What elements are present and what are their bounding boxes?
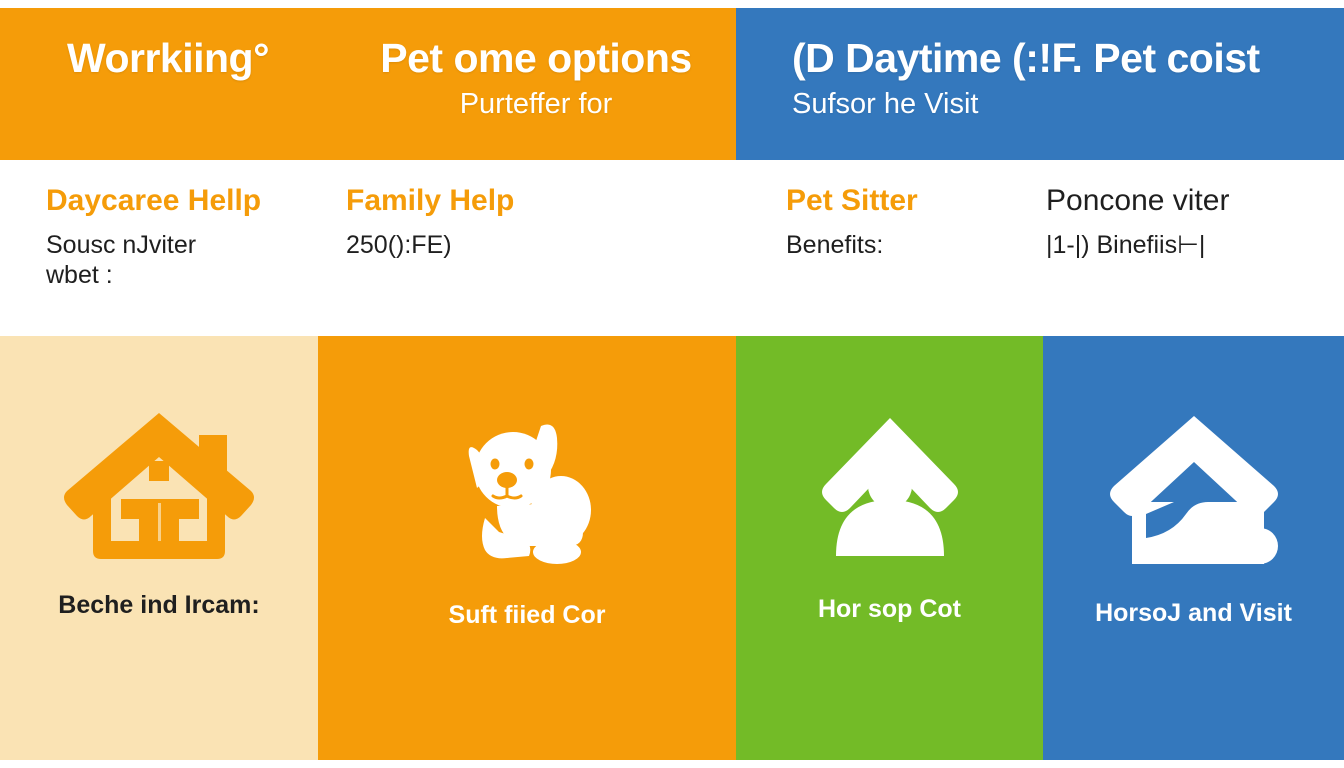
header-title-2: Pet ome options bbox=[380, 36, 691, 80]
middle-body-daycare: Sousc nJviter wbet : bbox=[46, 230, 196, 290]
panel-pet-sitter[interactable]: Hor sop Cot bbox=[736, 336, 1043, 760]
house-icon bbox=[59, 394, 259, 574]
middle-heading-poncone-viter: Poncone viter bbox=[1046, 184, 1229, 218]
middle-body-pet-sitter: Benefits: bbox=[786, 230, 883, 260]
middle-column-daycare: Daycaree Hellp Sousc nJviter wbet : bbox=[0, 160, 336, 336]
header-band: Worrkiing° Pet ome options Purteffer for… bbox=[0, 8, 1344, 160]
panel-label-puppy: Suft fiied Cor bbox=[449, 602, 606, 630]
infographic-canvas: Worrkiing° Pet ome options Purteffer for… bbox=[0, 0, 1344, 768]
bottom-white-strip bbox=[0, 760, 1344, 768]
header-subtitle-2: Purteffer for bbox=[460, 88, 613, 121]
middle-column-pet-sitter: Pet Sitter Benefits: bbox=[736, 160, 1036, 336]
icon-panels-row: Beche ind Ircam: bbox=[0, 336, 1344, 760]
header-segment-working: Worrkiing° bbox=[0, 8, 336, 160]
header-subtitle-3: Sufsor he Visit bbox=[792, 88, 978, 121]
middle-info-band: Daycaree Hellp Sousc nJviter wbet : Fami… bbox=[0, 160, 1344, 336]
header-segment-pet-options: Pet ome options Purteffer for bbox=[336, 8, 736, 160]
header-title-3: (D Daytime (:!F. Pet coist bbox=[792, 36, 1260, 80]
panel-puppy[interactable]: Suft fiied Cor bbox=[318, 336, 736, 760]
panel-daycare[interactable]: Beche ind Ircam: bbox=[0, 336, 318, 760]
middle-body-family-help: 250():FE) bbox=[346, 230, 452, 260]
middle-body-poncone-viter: |1-|) Binefiis⊢| bbox=[1046, 230, 1205, 260]
house-pet-icon bbox=[1104, 402, 1284, 582]
middle-heading-pet-sitter: Pet Sitter bbox=[786, 184, 918, 218]
middle-heading-daycare: Daycaree Hellp bbox=[46, 184, 261, 218]
panel-label-house-visit: HorsoJ and Visit bbox=[1095, 600, 1292, 628]
puppy-icon bbox=[437, 404, 617, 584]
middle-column-family-help: Family Help 250():FE) bbox=[336, 160, 736, 336]
panel-label-daycare: Beche ind Ircam: bbox=[58, 592, 259, 620]
panel-house-visit[interactable]: HorsoJ and Visit bbox=[1043, 336, 1344, 760]
middle-heading-family-help: Family Help bbox=[346, 184, 514, 218]
header-title-1: Worrkiing° bbox=[67, 36, 269, 80]
panel-label-pet-sitter: Hor sop Cot bbox=[818, 596, 961, 624]
roof-person-icon bbox=[810, 398, 970, 578]
header-segment-daytime-pet-cost: (D Daytime (:!F. Pet coist Sufsor he Vis… bbox=[736, 8, 1344, 160]
middle-column-poncone-viter: Poncone viter |1-|) Binefiis⊢| bbox=[1036, 160, 1344, 336]
